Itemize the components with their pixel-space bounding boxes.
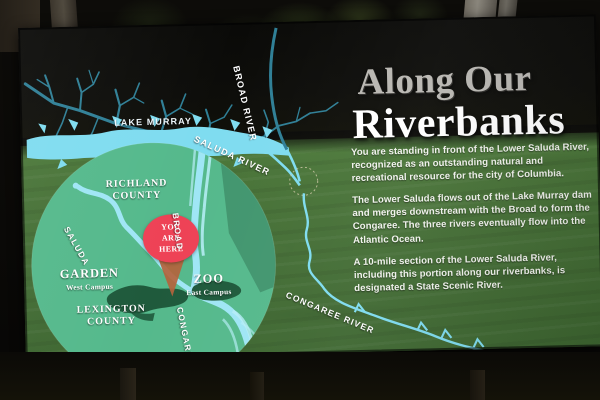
- label-zoo: ZOO East Campus: [186, 271, 232, 297]
- foreground-foliage: [0, 352, 600, 400]
- label-garden: GARDEN West Campus: [60, 266, 120, 292]
- label-richland-county: RICHLAND COUNTY: [106, 178, 168, 203]
- label-lexington-county: LEXINGTON COUNTY: [77, 303, 147, 329]
- photo-scene: YOU ARE HERE LAKE MURRAY BROAD RIVER SAL…: [0, 0, 600, 400]
- inset-locator-circle: [289, 167, 318, 196]
- sign-paragraph-3: A 10-mile section of the Lower Saluda Ri…: [353, 250, 600, 295]
- interpretive-sign-panel: YOU ARE HERE LAKE MURRAY BROAD RIVER SAL…: [18, 14, 600, 360]
- richland-line2: COUNTY: [106, 190, 168, 203]
- pin-label-line3: HERE: [143, 243, 199, 255]
- garden-subtitle: West Campus: [60, 282, 119, 292]
- sign-title-line1: Along Our: [357, 60, 532, 101]
- zoo-subtitle: East Campus: [186, 287, 232, 297]
- zoo-title: ZOO: [193, 271, 224, 286]
- garden-title: GARDEN: [60, 266, 119, 281]
- sign-paragraph-2: The Lower Saluda flows out of the Lake M…: [352, 188, 599, 247]
- lower-post-left: [120, 368, 136, 400]
- sign-paragraph-1: You are standing in front of the Lower S…: [351, 140, 598, 185]
- sign-title-line2: Riverbanks: [352, 99, 566, 146]
- label-lake-murray: LAKE MURRAY: [114, 116, 192, 128]
- pin-label: YOU ARE HERE: [143, 221, 200, 255]
- lower-post-right: [470, 370, 485, 400]
- lower-post-center: [250, 372, 264, 400]
- lexington-line2: COUNTY: [77, 315, 146, 329]
